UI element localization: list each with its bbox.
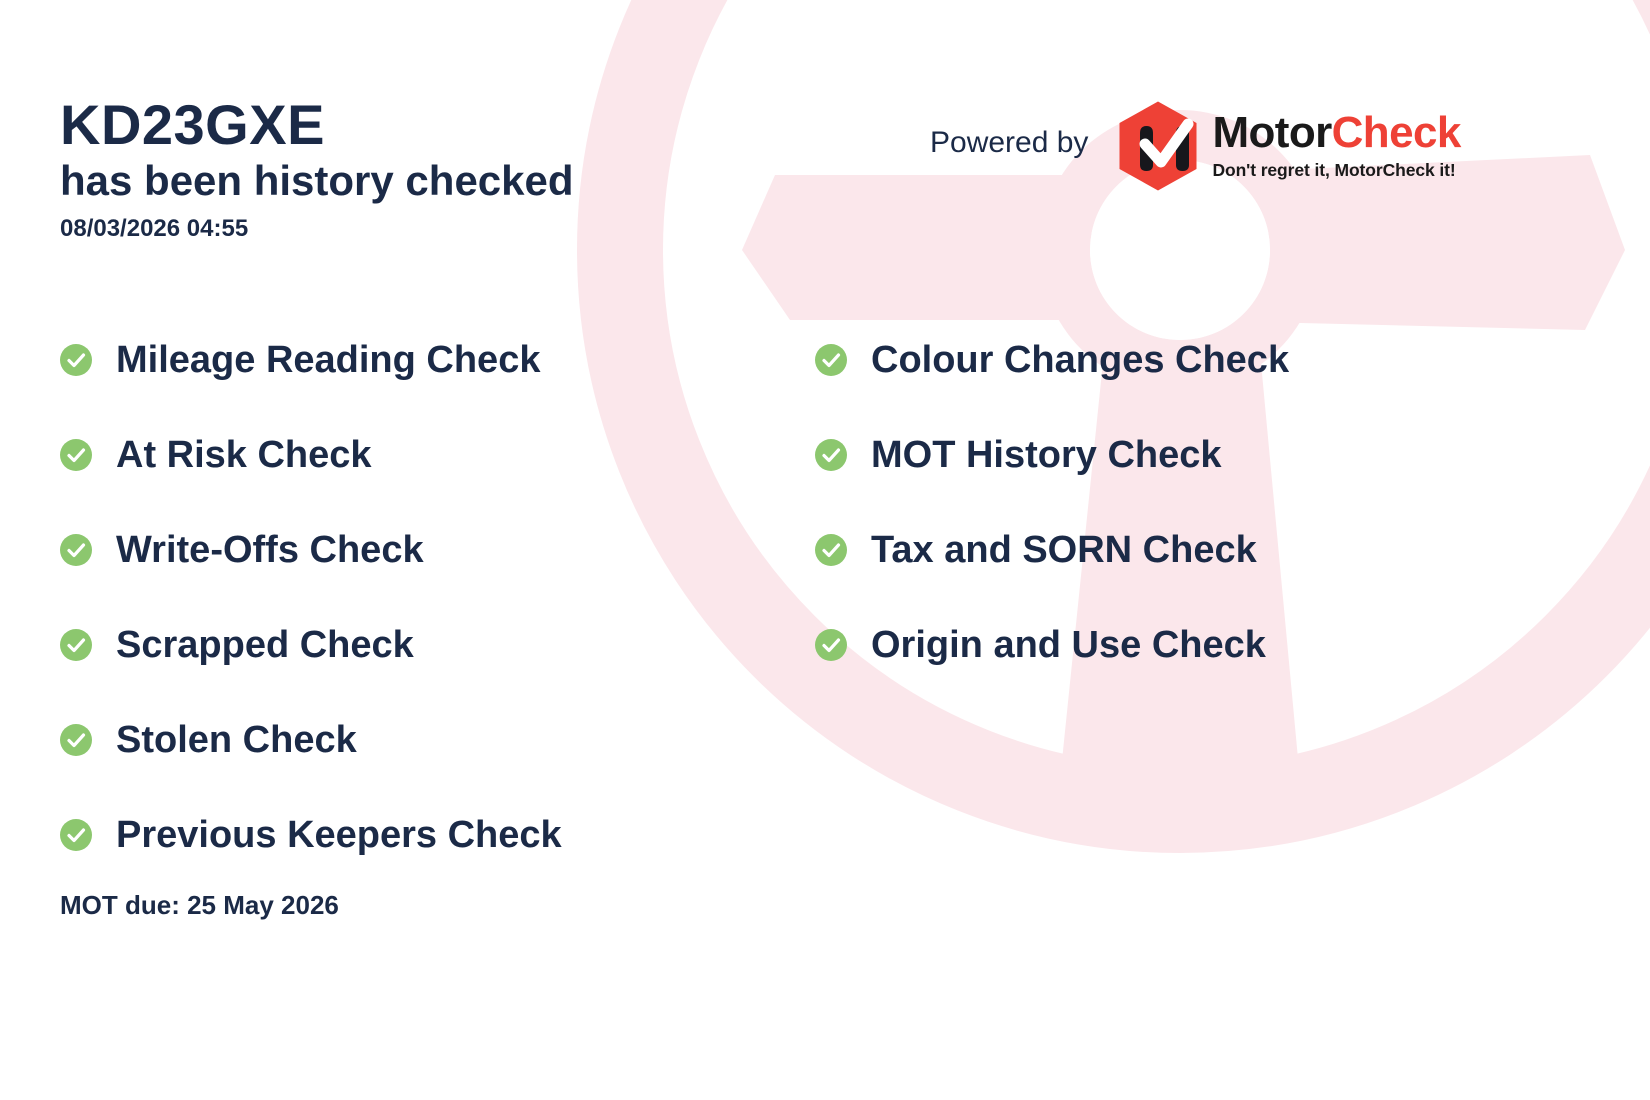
check-circle-icon [60,439,92,471]
check-item: Origin and Use Check [815,597,1575,692]
motorcheck-wordmark: MotorCheck Don't regret it, MotorCheck i… [1212,111,1460,181]
logo-tagline: Don't regret it, MotorCheck it! [1212,160,1460,181]
check-circle-icon [60,344,92,376]
mot-due-text: MOT due: 25 May 2026 [60,890,339,921]
powered-by-label: Powered by [930,126,1088,166]
check-circle-icon [60,724,92,756]
check-label: Tax and SORN Check [871,531,1257,569]
check-circle-icon [60,629,92,661]
check-circle-icon [815,439,847,471]
check-circle-icon [815,629,847,661]
check-status-headline: has been history checked [60,156,574,206]
check-item: Tax and SORN Check [815,502,1575,597]
check-item: At Risk Check [60,407,800,502]
check-circle-icon [815,344,847,376]
check-label: Previous Keepers Check [116,816,562,854]
check-circle-icon [60,819,92,851]
vehicle-registration: KD23GXE [60,95,574,154]
check-label: MOT History Check [871,436,1222,474]
check-item: Colour Changes Check [815,312,1575,407]
logo-word-check: Check [1332,108,1461,157]
check-item: MOT History Check [815,407,1575,502]
check-label: Write-Offs Check [116,531,424,569]
check-item: Scrapped Check [60,597,800,692]
checks-column-left: Mileage Reading Check At Risk Check Writ… [60,312,800,882]
powered-by-block: Powered by MotorCheck Don't regret it, M… [930,100,1461,192]
history-check-banner: KD23GXE has been history checked 08/03/2… [0,0,1650,1100]
check-label: Colour Changes Check [871,341,1289,379]
check-timestamp: 08/03/2026 04:55 [60,215,574,243]
check-label: Scrapped Check [116,626,414,664]
motorcheck-hexagon-logo-icon [1114,100,1202,192]
check-item: Write-Offs Check [60,502,800,597]
checks-column-right: Colour Changes Check MOT History Check T… [815,312,1575,692]
logo-word-motor: Motor [1212,108,1331,157]
check-label: At Risk Check [116,436,372,474]
check-label: Origin and Use Check [871,626,1266,664]
check-circle-icon [60,534,92,566]
check-circle-icon [815,534,847,566]
check-label: Mileage Reading Check [116,341,540,379]
check-item: Previous Keepers Check [60,787,800,882]
check-item: Stolen Check [60,692,800,787]
banner-header: KD23GXE has been history checked 08/03/2… [60,95,574,243]
check-item: Mileage Reading Check [60,312,800,407]
check-label: Stolen Check [116,721,357,759]
